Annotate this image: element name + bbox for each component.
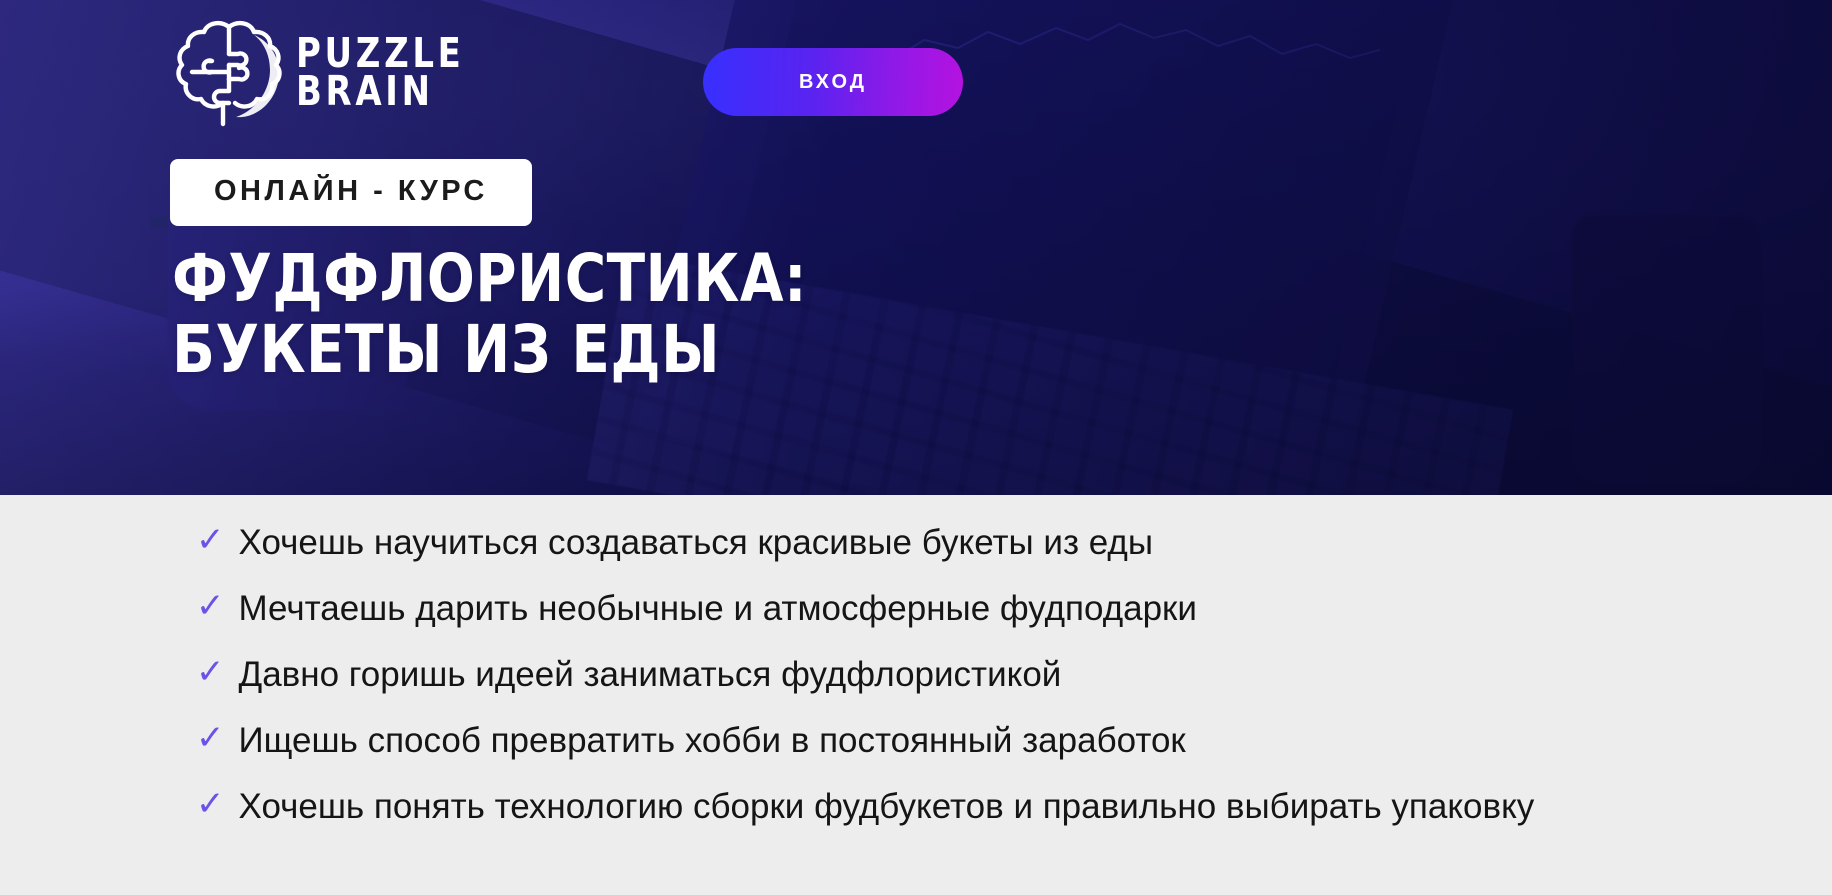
brand-logo-wordmark: PUZZLE BRAIN [296,35,479,110]
list-item-label: Мечтаешь дарить необычные и атмосферные … [239,587,1197,631]
benefits-list: ✓ Хочешь научиться создаваться красивые … [196,521,1832,829]
check-icon: ✓ [196,521,225,559]
check-icon: ✓ [196,719,225,757]
brand-logo[interactable]: PUZZLE BRAIN [176,18,479,128]
list-item: ✓ Хочешь понять технологию сборки фудбук… [196,785,1646,829]
check-icon: ✓ [196,653,225,691]
page-title: ФУДФЛОРИСТИКА: БУКЕТЫ ИЗ ЕДЫ [172,244,807,385]
course-format-badge: ОНЛАЙН - КУРС [170,159,532,226]
logo-line-2: BRAIN [296,73,465,111]
check-icon: ✓ [196,785,225,823]
check-icon: ✓ [196,587,225,625]
benefits-section: ✓ Хочешь научиться создаваться красивые … [0,495,1832,829]
list-item: ✓ Ищешь способ превратить хобби в постоя… [196,719,1646,763]
list-item: ✓ Давно горишь идеей заниматься фудфлори… [196,653,1646,697]
puzzle-brain-icon [176,18,282,128]
list-item-label: Хочешь научиться создаваться красивые бу… [239,521,1154,565]
login-button[interactable]: ВХОД [703,48,963,116]
list-item: ✓ Хочешь научиться создаваться красивые … [196,521,1646,565]
page-title-line-1: ФУДФЛОРИСТИКА: [172,244,807,315]
hero-section: PUZZLE BRAIN ВХОД ОНЛАЙН - КУРС ФУДФЛОРИ… [0,0,1832,495]
list-item-label: Давно горишь идеей заниматься фудфлорист… [239,653,1062,697]
page-title-line-2: БУКЕТЫ ИЗ ЕДЫ [172,315,807,386]
hero-content: PUZZLE BRAIN ВХОД ОНЛАЙН - КУРС ФУДФЛОРИ… [0,0,1832,495]
list-item: ✓ Мечтаешь дарить необычные и атмосферны… [196,587,1646,631]
list-item-label: Ищешь способ превратить хобби в постоянн… [239,719,1186,763]
list-item-label: Хочешь понять технологию сборки фудбукет… [239,785,1535,829]
